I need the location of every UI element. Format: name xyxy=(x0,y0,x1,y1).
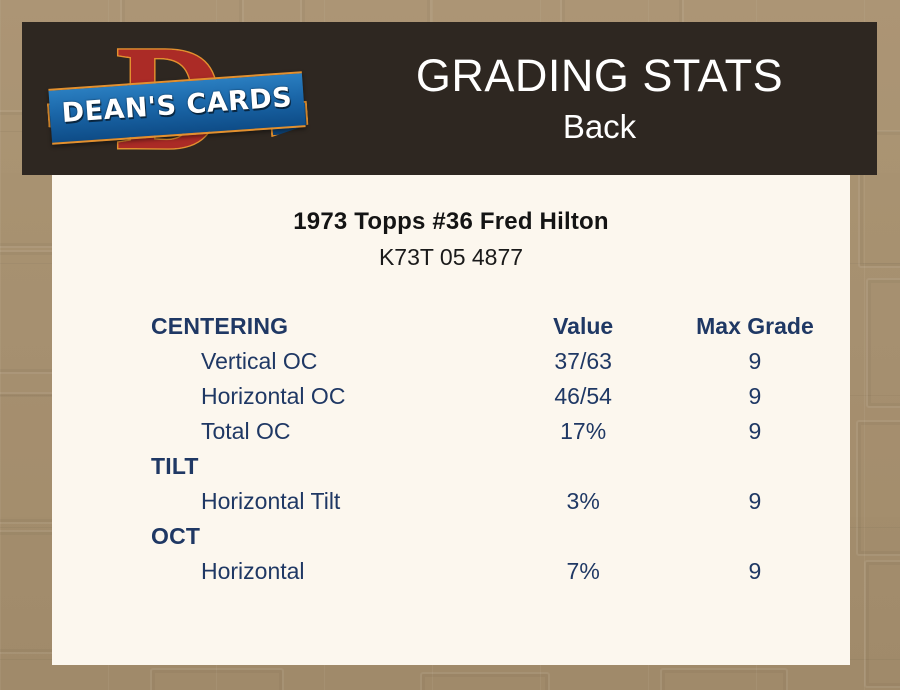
header-title-group: GRADING STATS Back xyxy=(322,22,877,175)
stat-value: 37/63 xyxy=(497,344,668,379)
column-header-centering: CENTERING xyxy=(151,309,497,344)
section-spacer-grade xyxy=(669,449,841,484)
stat-max-grade: 9 xyxy=(669,344,841,379)
table-row: Vertical OC 37/63 9 xyxy=(151,344,841,379)
section-header-oct: OCT xyxy=(151,519,841,554)
card-title: 1973 Topps #36 Fred Hilton xyxy=(52,208,850,236)
stat-label: Total OC xyxy=(151,414,497,449)
page-subtitle: Back xyxy=(563,106,636,148)
table-row: Total OC 17% 9 xyxy=(151,414,841,449)
grading-stats-table: CENTERING Value Max Grade Vertical OC 37… xyxy=(151,309,841,589)
stat-value: 46/54 xyxy=(497,379,668,414)
table-row: Horizontal Tilt 3% 9 xyxy=(151,484,841,519)
section-spacer-grade xyxy=(669,519,841,554)
header-bar: D DEAN'S CARDS GRADING STATS Back xyxy=(22,22,877,175)
table-row: Horizontal 7% 9 xyxy=(151,554,841,589)
stat-max-grade: 9 xyxy=(669,414,841,449)
deans-cards-logo[interactable]: D DEAN'S CARDS xyxy=(48,28,306,170)
stat-max-grade: 9 xyxy=(669,484,841,519)
section-header-tilt: TILT xyxy=(151,449,841,484)
stat-value: 3% xyxy=(497,484,668,519)
stat-label: Vertical OC xyxy=(151,344,497,379)
column-header-value: Value xyxy=(497,309,668,344)
section-spacer-value xyxy=(497,519,668,554)
stat-value: 17% xyxy=(497,414,668,449)
stat-label: Horizontal Tilt xyxy=(151,484,497,519)
section-title: OCT xyxy=(151,519,497,554)
grading-stats-screen: D DEAN'S CARDS GRADING STATS Back 1973 T… xyxy=(0,0,900,690)
grading-stats-body: CENTERING Value Max Grade Vertical OC 37… xyxy=(151,309,841,589)
stats-panel: 1973 Topps #36 Fred Hilton K73T 05 4877 … xyxy=(52,175,850,665)
section-title: TILT xyxy=(151,449,497,484)
table-row: Horizontal OC 46/54 9 xyxy=(151,379,841,414)
stat-max-grade: 9 xyxy=(669,554,841,589)
stat-label: Horizontal xyxy=(151,554,497,589)
stat-value: 7% xyxy=(497,554,668,589)
stat-max-grade: 9 xyxy=(669,379,841,414)
section-spacer-value xyxy=(497,449,668,484)
stat-label: Horizontal OC xyxy=(151,379,497,414)
card-serial-number: K73T 05 4877 xyxy=(52,244,850,271)
column-header-max-grade: Max Grade xyxy=(669,309,841,344)
page-title: GRADING STATS xyxy=(416,50,783,102)
table-header-row: CENTERING Value Max Grade xyxy=(151,309,841,344)
